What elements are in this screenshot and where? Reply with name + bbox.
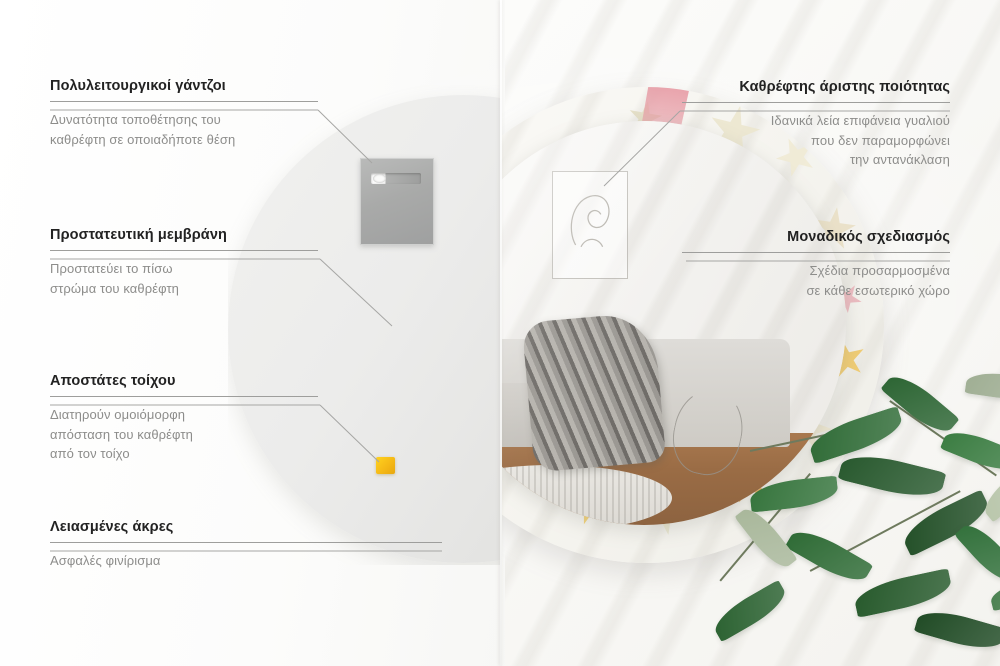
mirror-back-clip: [228, 85, 500, 565]
callout-quality-mirror-rule: [682, 102, 950, 103]
callout-quality-mirror: Καθρέφτης άριστης ποιότητας Ιδανικά λεία…: [682, 79, 950, 170]
leaf-shape: [988, 575, 1000, 611]
callout-unique-design-title: Μοναδικός σχεδιασμός: [682, 229, 950, 246]
view-split-seam: [500, 0, 502, 666]
hanger-screw-hole: [373, 174, 386, 183]
callout-spacers-rule: [50, 396, 318, 397]
leaf-shape: [914, 604, 1000, 655]
callout-edges: Λειασμένες άκρες Ασφαλές φινίρισμα: [50, 519, 442, 571]
leaf-shape: [965, 369, 1000, 403]
callout-edges-rule: [50, 542, 442, 543]
callout-membrane-title: Προστατευτική μεμβράνη: [50, 227, 318, 244]
callout-membrane-body: Προστατεύει το πίσω στρώμα του καθρέφτη: [50, 259, 318, 298]
callout-quality-mirror-title: Καθρέφτης άριστης ποιότητας: [682, 79, 950, 96]
wall-spacer: [376, 457, 395, 474]
callout-unique-design: Μοναδικός σχεδιασμός Σχέδια προσαρμοσμέν…: [682, 229, 950, 300]
callout-unique-design-rule: [682, 252, 950, 253]
callout-unique-design-body: Σχέδια προσαρμοσμένα σε κάθε εσωτερικό χ…: [682, 261, 950, 300]
foliage-decoration: [690, 330, 1000, 666]
callout-edges-body: Ασφαλές φινίρισμα: [50, 551, 442, 571]
callout-edges-title: Λειασμένες άκρες: [50, 519, 442, 536]
leaf-shape: [838, 448, 947, 504]
leaf-shape: [806, 406, 907, 464]
callout-hooks-rule: [50, 101, 318, 102]
callout-hooks: Πολυλειτουργικοί γάντζοι Δυνατότητα τοπο…: [50, 78, 318, 149]
callout-spacers: Αποστάτες τοίχου Διατηρούν ομοιόμορφη απ…: [50, 373, 318, 464]
hanger-plate: [360, 158, 434, 245]
callout-hooks-body: Δυνατότητα τοποθέτησης του καθρέφτη σε ο…: [50, 110, 318, 149]
leaf-shape: [709, 580, 791, 643]
infographic-canvas: Πολυλειτουργικοί γάντζοι Δυνατότητα τοπο…: [0, 0, 1000, 666]
callout-spacers-body: Διατηρούν ομοιόμορφη απόσταση του καθρέφ…: [50, 405, 318, 464]
callout-membrane: Προστατευτική μεμβράνη Προστατεύει το πί…: [50, 227, 318, 298]
leaf-shape: [954, 518, 1000, 589]
leaf-shape: [749, 475, 839, 512]
callout-spacers-title: Αποστάτες τοίχου: [50, 373, 318, 390]
leaf-shape: [734, 502, 797, 574]
callout-hooks-title: Πολυλειτουργικοί γάντζοι: [50, 78, 318, 95]
callout-quality-mirror-body: Ιδανικά λεία επιφάνεια γυαλιού που δεν π…: [682, 111, 950, 170]
callout-membrane-rule: [50, 250, 318, 251]
leaf-shape: [785, 522, 873, 589]
